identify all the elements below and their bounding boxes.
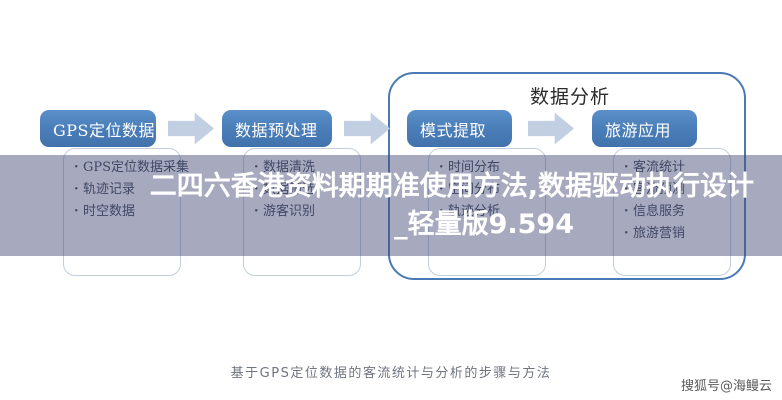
arrow-right-icon-2 [344,112,390,145]
stage-title-gps-data: GPS定位数据 [53,117,155,141]
overlay-title-line-2: _轻量版9.594 [394,206,574,244]
stage-chip-tourism-application[interactable]: 旅游应用 [592,110,697,147]
stage-chip-pattern-extraction[interactable]: 模式提取 [407,110,512,147]
arrow-right-icon-1 [168,112,214,145]
overlay-title: 二四六香港资料期期准使用方法,数据驱动执行设计 _轻量版9.594 [0,158,782,254]
stage-chip-gps-data[interactable]: GPS定位数据 [40,110,156,147]
watermark-text: 搜狐号@海鳗云 [681,375,772,394]
stage-title-pattern-extraction: 模式提取 [420,117,486,141]
watermark: 搜狐号@海鳗云 [681,375,772,394]
overlay-title-line-1: 二四六香港资料期期准使用方法,数据驱动执行设计 [150,168,754,206]
stage-title-data-preprocessing: 数据预处理 [235,117,318,141]
screenshot-canvas: 数据分析 GPS定位数据采集 轨迹记录 时空数据 GPS定位数据 数据清洗 数据… [0,0,782,400]
data-analysis-group-title: 数据分析 [500,82,640,109]
diagram-caption: 基于GPS定位数据的客流统计与分析的步骤与方法 [0,362,782,381]
stage-title-tourism-application: 旅游应用 [605,117,671,141]
stage-chip-data-preprocessing[interactable]: 数据预处理 [222,110,332,147]
